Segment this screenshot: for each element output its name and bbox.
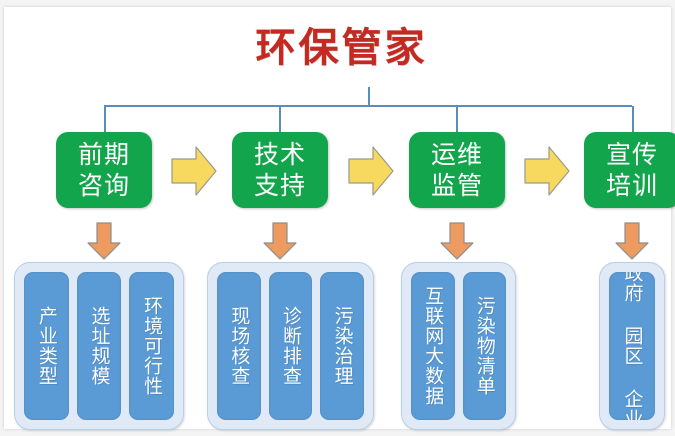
pill-item[interactable]: 政府 园区 企业 — [609, 272, 655, 420]
stage-label-line-2: 支持 — [254, 170, 306, 201]
pill-label: 污染治理 — [331, 306, 354, 386]
pill-label: 互联网大数据 — [421, 286, 444, 406]
connector-bar — [104, 105, 632, 107]
connector-drop-1 — [104, 106, 106, 132]
pill-label: 产业类型 — [35, 306, 58, 386]
pill-item[interactable]: 互联网大数据 — [411, 272, 455, 420]
page-title: 环保管家 — [4, 25, 675, 71]
stage-box-ops-supervision[interactable]: 运维 监管 — [409, 132, 505, 208]
diagram-canvas: 环保管家 前期 咨询 技术 支持 运维 监管 宣传 培训 — [0, 0, 675, 436]
group-pre-consult: 产业类型 选址规模 环境可行性 — [14, 262, 184, 430]
stage-label-line-1: 宣传 — [606, 139, 658, 170]
diagram-card: 环保管家 前期 咨询 技术 支持 运维 监管 宣传 培训 — [4, 7, 671, 429]
pill-item[interactable]: 污染治理 — [320, 272, 364, 420]
pill-item[interactable]: 诊断排查 — [269, 272, 313, 420]
pill-item[interactable]: 环境可行性 — [129, 272, 174, 420]
pill-label: 环境可行性 — [140, 296, 163, 396]
down-arrow-icon — [262, 221, 298, 261]
group-tech-support: 现场核查 诊断排查 污染治理 — [207, 262, 374, 430]
pill-label: 诊断排查 — [279, 306, 302, 386]
chevron-right-icon — [347, 145, 395, 197]
stage-label-line-1: 技术 — [254, 139, 306, 170]
pill-item[interactable]: 产业类型 — [24, 272, 69, 420]
pill-item[interactable]: 污染物清单 — [463, 272, 507, 420]
stage-box-publicity-training[interactable]: 宣传 培训 — [584, 132, 675, 208]
stage-label-line-2: 咨询 — [78, 170, 130, 201]
stage-label-line-2: 培训 — [606, 170, 658, 201]
connector-stem — [368, 87, 370, 106]
stage-box-tech-support[interactable]: 技术 支持 — [232, 132, 328, 208]
down-arrow-icon — [614, 221, 650, 261]
pill-label: 污染物清单 — [473, 296, 496, 396]
stage-label-line-1: 前期 — [78, 139, 130, 170]
pill-item[interactable]: 现场核查 — [217, 272, 261, 420]
down-arrow-icon — [439, 221, 475, 261]
down-arrow-icon — [86, 221, 122, 261]
pill-label: 政府 园区 企业 — [621, 272, 644, 420]
chevron-right-icon — [523, 145, 571, 197]
group-publicity-training: 政府 园区 企业 — [599, 262, 665, 430]
connector-drop-2 — [279, 106, 281, 132]
stage-box-pre-consult[interactable]: 前期 咨询 — [56, 132, 152, 208]
pill-item[interactable]: 选址规模 — [77, 272, 122, 420]
connector-drop-3 — [456, 106, 458, 132]
pill-label: 选址规模 — [88, 306, 111, 386]
stage-label-line-2: 监管 — [431, 170, 483, 201]
stage-label-line-1: 运维 — [431, 139, 483, 170]
group-ops-supervision: 互联网大数据 污染物清单 — [401, 262, 516, 430]
pill-label: 现场核查 — [227, 306, 250, 386]
connector-drop-4 — [632, 106, 634, 132]
chevron-right-icon — [170, 145, 218, 197]
